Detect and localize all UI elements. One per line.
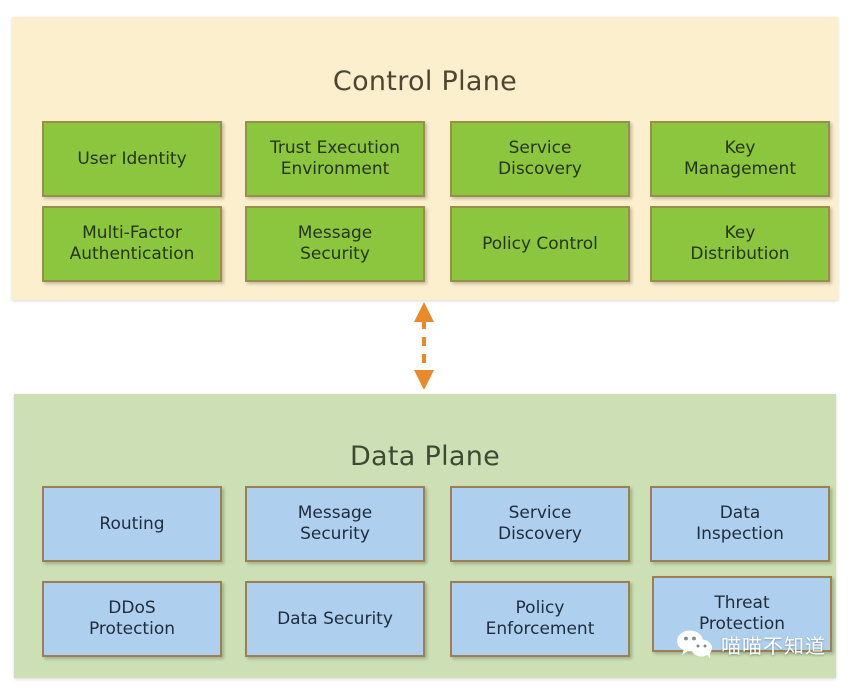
- control-node-key-management[interactable]: Key Management: [650, 121, 830, 197]
- data-node-data-security[interactable]: Data Security: [245, 581, 425, 657]
- node-label: Data Inspection: [690, 503, 790, 544]
- connector-arrowhead-down: [414, 370, 434, 390]
- control-node-service-discovery[interactable]: Service Discovery: [450, 121, 630, 197]
- data-node-ddos-protection[interactable]: DDoS Protection: [42, 581, 222, 657]
- data-node-routing[interactable]: Routing: [42, 486, 222, 562]
- node-label: Service Discovery: [492, 503, 588, 544]
- node-label: Message Security: [292, 223, 379, 264]
- node-label: Policy Enforcement: [480, 598, 601, 639]
- data-node-threat-protection[interactable]: Threat Protection: [652, 576, 832, 652]
- data-node-policy-enforcement[interactable]: Policy Enforcement: [450, 581, 630, 657]
- data-plane-panel: Data Plane Routing Message Security Serv…: [14, 394, 836, 678]
- node-label: Routing: [93, 514, 170, 535]
- data-plane-title: Data Plane: [14, 441, 836, 472]
- node-label: Key Distribution: [684, 223, 795, 264]
- node-label: Message Security: [292, 503, 379, 544]
- control-node-key-distribution[interactable]: Key Distribution: [650, 206, 830, 282]
- data-node-service-discovery[interactable]: Service Discovery: [450, 486, 630, 562]
- data-node-message-security[interactable]: Message Security: [245, 486, 425, 562]
- node-label: Policy Control: [476, 234, 604, 255]
- node-label: Trust Execution Environment: [264, 138, 406, 179]
- connector-arrowhead-up: [414, 302, 434, 322]
- control-node-policy-control[interactable]: Policy Control: [450, 206, 630, 282]
- node-label: Service Discovery: [492, 138, 588, 179]
- control-node-multi-factor-authentication[interactable]: Multi-Factor Authentication: [42, 206, 222, 282]
- control-node-message-security[interactable]: Message Security: [245, 206, 425, 282]
- diagram-canvas: Control Plane User Identity Trust Execut…: [0, 0, 848, 690]
- node-label: Multi-Factor Authentication: [64, 223, 201, 264]
- control-plane-panel: Control Plane User Identity Trust Execut…: [12, 17, 838, 300]
- node-label: Key Management: [678, 138, 802, 179]
- plane-connector-arrow: [411, 300, 437, 392]
- node-label: Threat Protection: [693, 593, 791, 634]
- data-node-data-inspection[interactable]: Data Inspection: [650, 486, 830, 562]
- control-plane-title: Control Plane: [12, 66, 838, 97]
- control-node-trust-execution-environment[interactable]: Trust Execution Environment: [245, 121, 425, 197]
- node-label: Data Security: [271, 609, 399, 630]
- node-label: DDoS Protection: [83, 598, 181, 639]
- control-node-user-identity[interactable]: User Identity: [42, 121, 222, 197]
- node-label: User Identity: [71, 149, 192, 170]
